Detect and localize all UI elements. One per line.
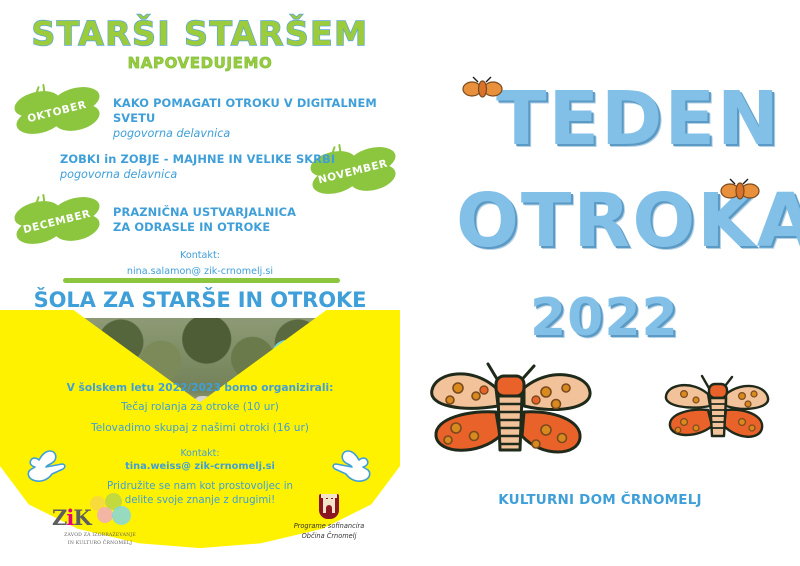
bubble — [97, 507, 113, 523]
crest-caption-1: Programe sofinancira — [284, 522, 374, 532]
bubble — [112, 506, 131, 525]
month-badge-label: OKTOBER — [9, 78, 104, 145]
zik-wordmark: ZiK — [52, 500, 148, 532]
zik-letters: ZiK — [52, 505, 91, 530]
zik-bubbles — [88, 496, 144, 530]
right-panel: ZiK ZAVOD ZA IZOBRAŽEVANJE IN KULTURO ČR… — [400, 0, 800, 566]
school-course-1: Tečaj rolanja za otroke (10 ur) — [0, 401, 400, 413]
headline-year: 2022 — [530, 288, 679, 348]
event-item: ZOBKI in ZOBJE - MAJHNE IN VELIKE SKRBI … — [60, 152, 360, 182]
zik-logo: ZiK ZAVOD ZA IZOBRAŽEVANJE IN KULTURO ČR… — [52, 500, 148, 548]
zik-tagline-1: ZAVOD ZA IZOBRAŽEVANJE — [52, 533, 148, 540]
event-title: ZOBKI in ZOBJE - MAJHNE IN VELIKE SKRBI — [60, 152, 360, 167]
crest-caption-2: Občina Črnomelj — [284, 532, 374, 542]
butterfly-icon — [720, 178, 760, 203]
event-item: PRAZNIČNA USTVARJALNICA ZA ODRASLE IN OT… — [113, 205, 393, 235]
event-title: KAKO POMAGATI OTROKU V DIGITALNEM SVETU — [113, 96, 398, 126]
headline-word-teden: TEDEN — [496, 76, 781, 162]
page-subtitle: NAPOVEDUJEMO — [0, 54, 400, 72]
venue-label: KULTURNI DOM ČRNOMELJ — [400, 492, 800, 508]
month-badge-label: DECEMBER — [9, 188, 104, 255]
zik-letter-k: K — [73, 505, 90, 530]
event-subtitle: pogovorna delavnica — [113, 126, 398, 141]
crest-door — [326, 505, 332, 513]
contact-label: Kontakt: — [0, 248, 400, 264]
month-badge-december: DECEMBER — [14, 198, 100, 246]
contact-block: Kontakt: nina.salamon@ zik-crnomelj.si — [0, 248, 400, 280]
page-title: STARŠI STARŠEM — [0, 14, 400, 53]
butterfly-illustration-small — [662, 372, 774, 448]
butterfly-icon — [462, 76, 504, 102]
event-subtitle: pogovorna delavnica — [60, 167, 360, 182]
school-lead: V šolskem letu 2022/2023 bomo organizira… — [0, 382, 400, 394]
zik-tagline-2: IN KULTURO ČRNOMELJ — [52, 541, 148, 548]
poster: STARŠI STARŠEM NAPOVEDUJEMO OKTOBER NOVE… — [0, 0, 800, 566]
school-course-2: Telovadimo skupaj z našimi otroki (16 ur… — [0, 422, 400, 434]
crest-shield-icon — [319, 494, 339, 519]
month-badge-oktober: OKTOBER — [14, 88, 100, 136]
dove-icon — [24, 447, 68, 487]
event-title: PRAZNIČNA USTVARJALNICA ZA ODRASLE IN OT… — [113, 205, 393, 235]
left-panel: STARŠI STARŠEM NAPOVEDUJEMO OKTOBER NOVE… — [0, 0, 400, 566]
event-item: KAKO POMAGATI OTROKU V DIGITALNEM SVETU … — [113, 96, 398, 141]
butterfly-illustration-large — [422, 358, 602, 468]
section-divider — [63, 278, 340, 283]
municipality-crest: Programe sofinancira Občina Črnomelj — [284, 494, 374, 541]
dove-icon — [330, 447, 374, 487]
zik-letter-z: Z — [52, 505, 66, 530]
school-section-title: ŠOLA ZA STARŠE IN OTROKE — [0, 288, 400, 312]
